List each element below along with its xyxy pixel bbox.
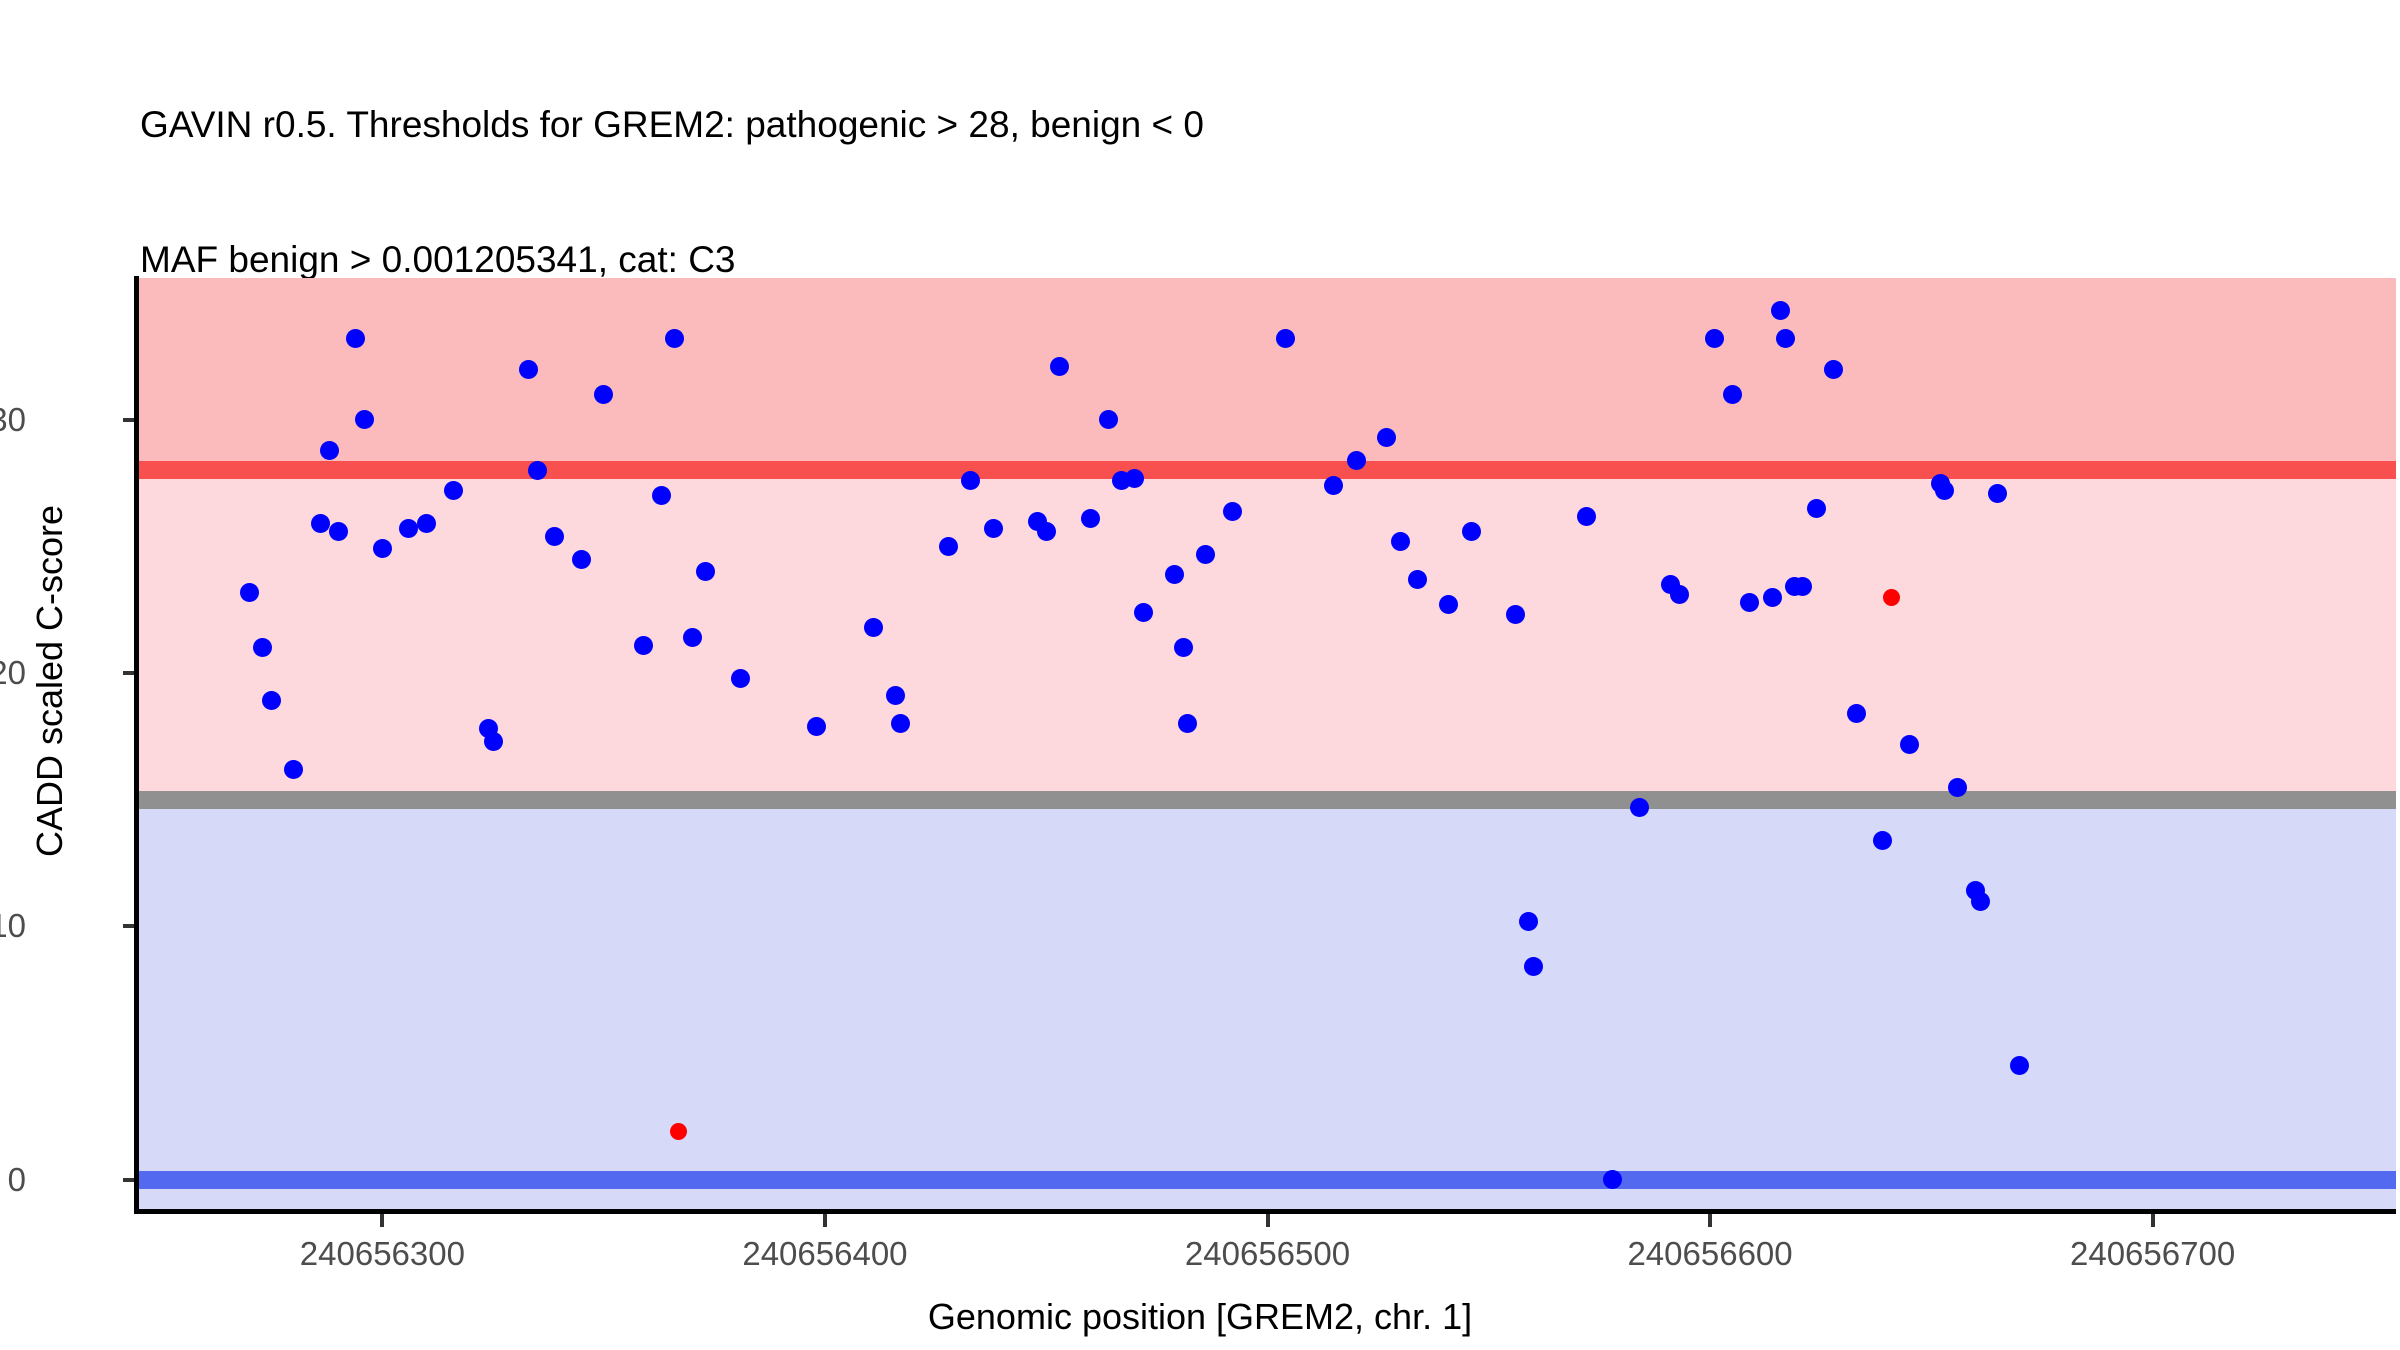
data-point	[891, 714, 910, 733]
benign-threshold-line	[139, 1171, 2396, 1189]
data-point	[864, 618, 883, 637]
data-point	[1462, 522, 1481, 541]
y-tick-label: 10	[0, 907, 26, 945]
data-point	[1883, 589, 1900, 606]
y-tick-mark	[123, 924, 134, 928]
data-point	[1276, 329, 1295, 348]
data-point	[731, 669, 750, 688]
y-tick-mark	[123, 671, 134, 675]
data-point	[1900, 735, 1919, 754]
data-point	[1763, 588, 1782, 607]
data-point	[1347, 451, 1366, 470]
plot-panel	[139, 278, 2396, 1210]
data-point	[1723, 385, 1742, 404]
data-point	[1050, 357, 1069, 376]
y-axis-line	[134, 276, 139, 1214]
genome-wide-fallback-line	[139, 791, 2396, 809]
data-point	[1670, 585, 1689, 604]
data-point	[1519, 912, 1538, 931]
data-point	[1948, 778, 1967, 797]
plot-title-line-1: GAVIN r0.5. Thresholds for GREM2: pathog…	[140, 102, 2320, 147]
x-axis-label: Genomic position [GREM2, chr. 1]	[0, 1296, 2400, 1338]
data-point	[1223, 502, 1242, 521]
data-point	[1037, 522, 1056, 541]
data-point	[1125, 469, 1144, 488]
data-point	[572, 550, 591, 569]
data-point	[1847, 704, 1866, 723]
data-point	[329, 522, 348, 541]
x-tick-mark	[823, 1214, 827, 1227]
pathogenic-threshold-line	[139, 461, 2396, 479]
x-tick-label: 240656400	[742, 1235, 907, 1273]
data-point	[528, 461, 547, 480]
benign-band	[139, 800, 2396, 1210]
data-point	[807, 717, 826, 736]
data-point	[1988, 484, 2007, 503]
data-point	[683, 628, 702, 647]
data-point	[634, 636, 653, 655]
data-point	[320, 441, 339, 460]
data-point	[519, 360, 538, 379]
x-tick-label: 240656600	[1627, 1235, 1792, 1273]
data-point	[1196, 545, 1215, 564]
data-point	[1391, 532, 1410, 551]
plot-title-line-2: MAF benign > 0.001205341, cat: C3	[140, 237, 2320, 282]
y-tick-label: 20	[0, 654, 26, 692]
x-tick-mark	[2151, 1214, 2155, 1227]
data-point	[652, 486, 671, 505]
data-point	[1776, 329, 1795, 348]
data-point	[1824, 360, 1843, 379]
data-point	[444, 481, 463, 500]
data-point	[484, 732, 503, 751]
data-point	[1873, 831, 1892, 850]
data-point	[240, 583, 259, 602]
y-axis-label: CADD scaled C-score	[29, 331, 71, 1031]
x-tick-label: 240656300	[300, 1235, 465, 1273]
y-tick-label: 0	[8, 1161, 26, 1199]
y-tick-mark	[123, 1178, 134, 1182]
data-point	[1630, 798, 1649, 817]
data-point	[1524, 957, 1543, 976]
y-tick-label: 30	[0, 401, 26, 439]
data-point	[1577, 507, 1596, 526]
data-point	[311, 514, 330, 533]
data-point	[1099, 410, 1118, 429]
data-point	[1506, 605, 1525, 624]
data-point	[1134, 603, 1153, 622]
data-point	[984, 519, 1003, 538]
data-point	[1165, 565, 1184, 584]
data-point	[1740, 593, 1759, 612]
x-tick-label: 240656500	[1185, 1235, 1350, 1273]
data-point	[1081, 509, 1100, 528]
vous-band	[139, 470, 2396, 799]
x-tick-mark	[380, 1214, 384, 1227]
data-point	[1971, 892, 1990, 911]
x-tick-label: 240656700	[2070, 1235, 2235, 1273]
data-point	[1807, 499, 1826, 518]
pathogenic-band	[139, 278, 2396, 470]
x-tick-mark	[1266, 1214, 1270, 1227]
y-tick-mark	[123, 418, 134, 422]
x-tick-mark	[1708, 1214, 1712, 1227]
